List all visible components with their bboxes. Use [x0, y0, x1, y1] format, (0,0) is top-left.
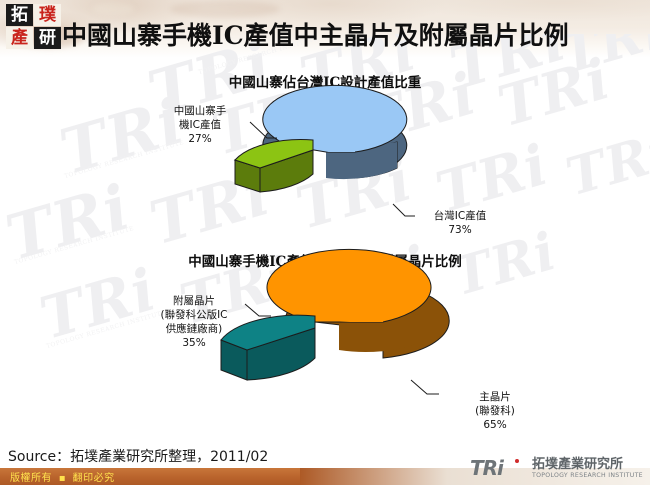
pie-2-slice-orange-top: [267, 249, 431, 322]
pie-2-callout-teal: 附屬晶片 (聯發科公版IC 供應鏈廠商) 35%: [130, 294, 258, 350]
callout-line: 中國山寨手: [144, 104, 256, 118]
page-title: 中國山寨手機IC產值中主晶片及附屬晶片比例: [62, 16, 648, 56]
callout-line: 台灣IC產值: [408, 209, 512, 223]
copyright-left: 版權所有: [10, 473, 52, 484]
tri-name-en: TOPOLOGY RESEARCH INSTITUTE: [532, 472, 643, 480]
slide-canvas: TRi TRi TRi TRi TRi TRi TRi TRi TRi TRi …: [0, 0, 650, 485]
callout-line: 73%: [408, 223, 512, 237]
callout-line: 35%: [130, 336, 258, 350]
logo-char-3: 產: [6, 27, 33, 49]
tri-name-cn: 拓墣產業研究所: [532, 458, 623, 472]
copyright-separator: ▪: [59, 473, 66, 484]
copyright-right: 翻印必究: [73, 473, 115, 484]
callout-line: (聯發科公版IC: [130, 308, 258, 322]
callout-line: 供應鏈廠商): [130, 322, 258, 336]
callout-line: (聯發科): [452, 404, 538, 418]
tri-dot-icon: [515, 459, 519, 463]
source-note: Source：拓墣產業研究所整理，2011/02: [8, 446, 268, 466]
copyright-notice: 版權所有 ▪ 翻印必究: [10, 469, 115, 484]
paper-blotch: [92, 2, 134, 16]
callout-line: 65%: [452, 418, 538, 432]
company-logo-mark: 拓 璞 產 研: [6, 4, 64, 52]
watermark-tri: TRi: [560, 121, 650, 208]
tri-logo: TRi 拓墣產業研究所 TOPOLOGY RESEARCH INSTITUTE: [470, 458, 642, 482]
pie-2-callout-orange: 主晶片 (聯發科) 65%: [452, 390, 538, 432]
callout-line: 主晶片: [452, 390, 538, 404]
pie-1-callout-blue: 台灣IC產值 73%: [408, 209, 512, 237]
pie-2-leader-orange: [411, 380, 439, 394]
callout-line: 27%: [144, 132, 256, 146]
logo-char-2: 璞: [34, 4, 61, 26]
tri-wordmark: TRi: [470, 458, 503, 478]
pie-1-callout-green: 中國山寨手 機IC產值 27%: [144, 104, 256, 146]
logo-char-1: 拓: [6, 4, 33, 26]
logo-char-4: 研: [34, 27, 61, 49]
callout-line: 附屬晶片: [130, 294, 258, 308]
callout-line: 機IC產值: [144, 118, 256, 132]
